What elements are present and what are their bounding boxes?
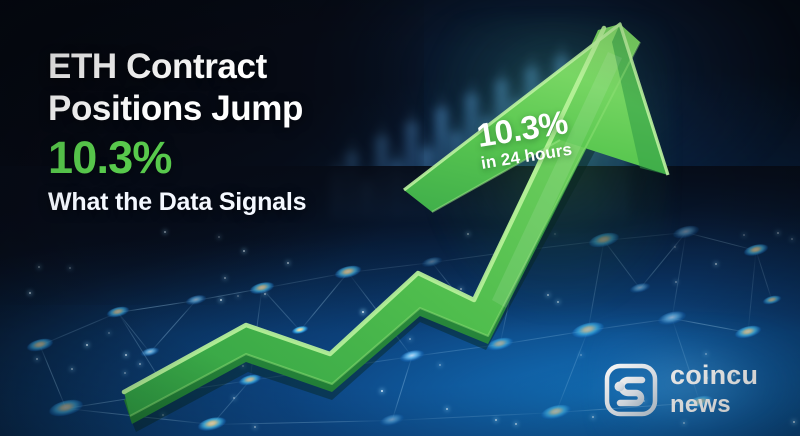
coincu-news-banner: ETH Contract Positions Jump 10.3% What t… xyxy=(0,0,800,436)
vignette-overlay xyxy=(0,0,800,436)
